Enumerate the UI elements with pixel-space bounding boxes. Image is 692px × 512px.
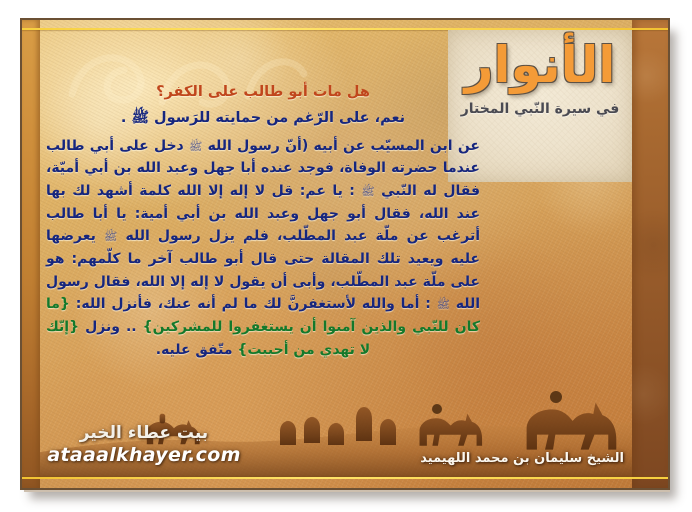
gold-rule-bottom — [22, 477, 668, 479]
question-line: هل مات أبو طالب على الكفر؟ — [46, 82, 480, 104]
answer-line: نعم، على الرّغم من حمايته للرَسول ﷺ . — [46, 108, 480, 130]
poster-canvas: الأنوار في سيرة النّبي المختار هل مات أب… — [22, 20, 668, 488]
hadith-text: عن ابن المسيّب عن أبيه (أنّ رسول الله ﷺ … — [46, 135, 480, 362]
poster-frame: الأنوار في سيرة النّبي المختار هل مات أب… — [20, 18, 670, 490]
author-attribution: الشيخ سليمان بن محمد اللهيميد — [420, 451, 624, 466]
hadith-part-7: فأنزل الله: — [76, 296, 152, 312]
left-border-strip — [22, 20, 40, 488]
site-logo[interactable]: بيت عطاء الخير ataaalkhayer.com — [46, 423, 242, 466]
hadith-part-3: : يا عم: — [300, 183, 355, 199]
right-border-strip — [632, 20, 668, 488]
prophet-quote: أما والله لأستغفرنَّ لك ما لم أنه عنك، — [158, 296, 420, 312]
logo-arabic-name: بيت عطاء الخير — [46, 423, 242, 443]
poster-root: الأنوار في سيرة النّبي المختار هل مات أب… — [0, 0, 692, 512]
hadith-part-6: : — [425, 296, 431, 312]
sallallahu-alayhi-wasallam-icon-3: ﷺ — [104, 230, 117, 243]
body-text-block: هل مات أبو طالب على الكفر؟ نعم، على الرّ… — [46, 82, 480, 361]
hadith-part-10: متّفق عليه. — [156, 342, 233, 358]
hadith-part-1: عن ابن المسيّب عن أبيه (أنّ رسول الله — [208, 138, 480, 154]
hadith-part-9: ونزل — [85, 319, 120, 335]
hadith-part-8: .. — [126, 319, 137, 335]
sallallahu-alayhi-wasallam-icon-4: ﷺ — [437, 298, 450, 311]
sallallahu-alayhi-wasallam-icon-2: ﷺ — [361, 185, 374, 198]
logo-website-url[interactable]: ataaalkhayer.com — [46, 444, 242, 466]
sallallahu-alayhi-wasallam-icon: ﷺ — [189, 140, 202, 153]
